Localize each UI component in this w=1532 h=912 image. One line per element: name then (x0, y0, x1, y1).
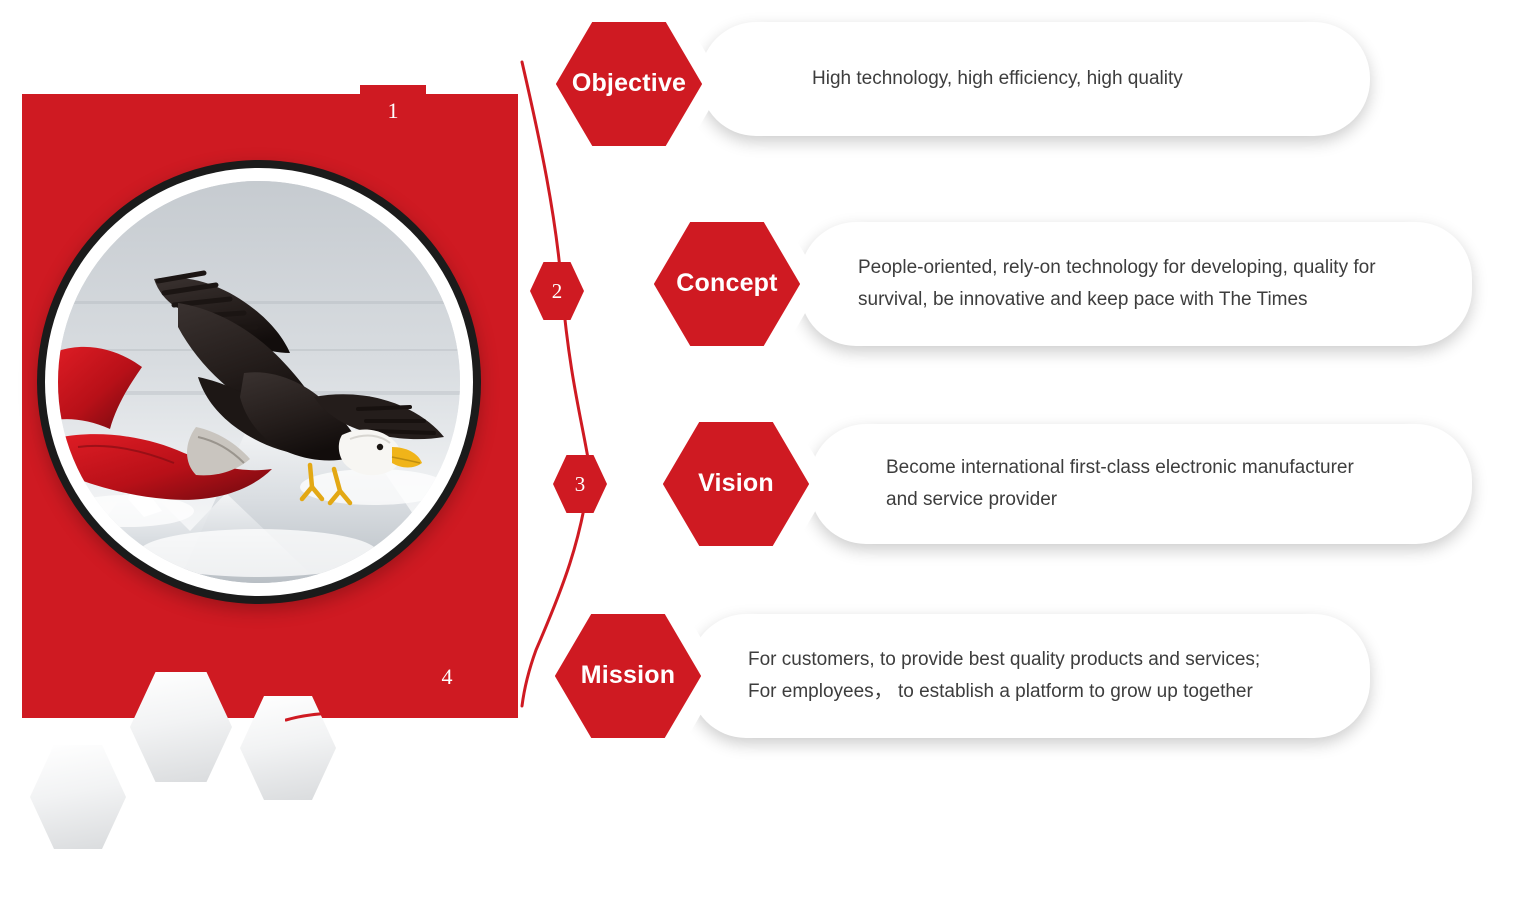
card-mission[interactable]: For customers, to provide best quality p… (690, 614, 1370, 738)
hex-label-concept: Concept (676, 269, 777, 298)
hex-badge-concept[interactable]: Concept (632, 202, 822, 366)
hex-label-vision: Vision (698, 469, 774, 498)
card-concept-text: People-oriented, rely-on technology for … (858, 252, 1376, 316)
eagle-photo (58, 181, 460, 583)
photo-inner-ring (45, 168, 473, 596)
hex-badge-objective[interactable]: Objective (534, 2, 724, 166)
card-mission-text: For customers, to provide best quality p… (748, 644, 1260, 708)
card-vision[interactable]: Become international first-class electro… (810, 424, 1472, 544)
card-objective-text: High technology, high efficiency, high q… (812, 63, 1183, 95)
decorative-hexagon-left (30, 745, 126, 849)
card-vision-text: Become international first-class electro… (886, 452, 1354, 516)
decorative-red-stroke (285, 712, 343, 722)
card-objective[interactable]: High technology, high efficiency, high q… (700, 22, 1370, 136)
hex-badge-vision[interactable]: Vision (641, 402, 831, 566)
card-concept[interactable]: People-oriented, rely-on technology for … (800, 222, 1472, 346)
step-number-1: 1 (360, 98, 426, 124)
hex-badge-mission[interactable]: Mission (533, 594, 723, 758)
infographic-canvas: 1 4 (0, 0, 1532, 912)
hex-label-objective: Objective (572, 69, 686, 98)
step-number-4: 4 (414, 664, 480, 690)
hex-label-mission: Mission (581, 661, 675, 690)
photo-ring (37, 160, 481, 604)
